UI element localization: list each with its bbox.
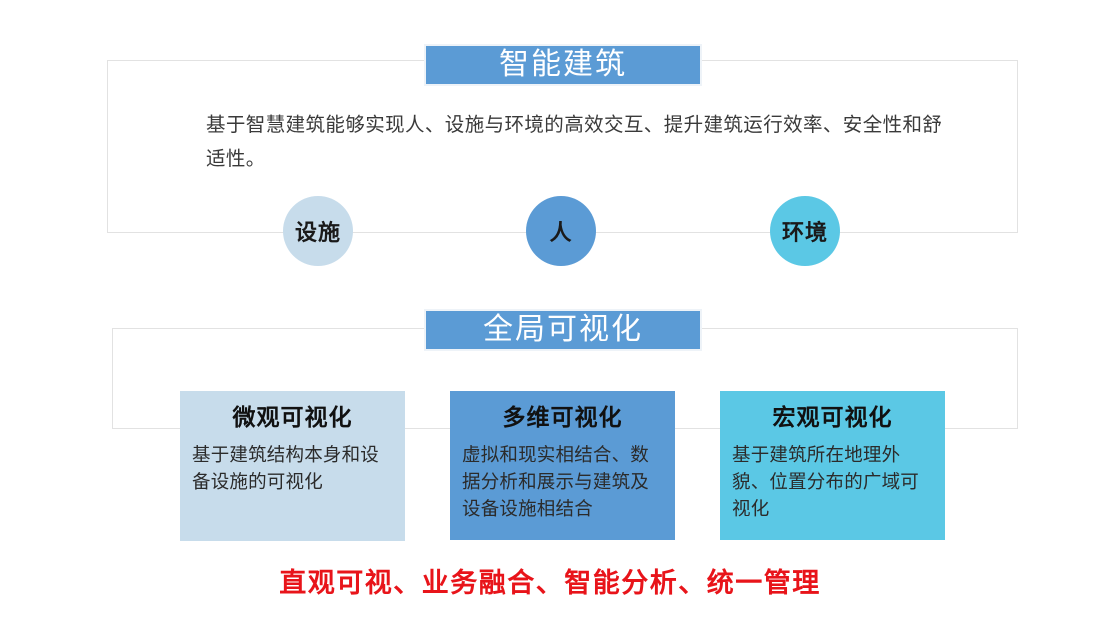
banner-smart-building-label: 智能建筑 [499,50,627,80]
banner-global-visualization-label: 全局可视化 [483,315,643,345]
pillar-circle-environment[interactable]: 环境 [770,196,840,266]
pillar-circle-row: 设施 人 环境 [107,196,1018,268]
pillar-circle-facilities[interactable]: 设施 [283,196,353,266]
card-macro-visualization-title: 宏观可视化 [732,405,933,430]
card-multidimensional-visualization[interactable]: 多维可视化 虚拟和现实相结合、数据分析和展示与建筑及设备设施相结合 [450,391,675,540]
card-micro-visualization-body: 基于建筑结构本身和设备设施的可视化 [192,441,393,495]
pillar-circle-people-label: 人 [549,215,572,247]
card-micro-visualization-title: 微观可视化 [192,405,393,430]
banner-global-visualization: 全局可视化 [424,309,702,351]
card-macro-visualization[interactable]: 宏观可视化 基于建筑所在地理外貌、位置分布的广域可视化 [720,391,945,540]
pillar-circle-facilities-label: 设施 [295,215,341,247]
footer-slogan: 直观可视、业务融合、智能分析、统一管理 [0,561,1100,600]
pillar-circle-environment-label: 环境 [782,215,828,247]
banner-smart-building: 智能建筑 [424,44,702,86]
card-macro-visualization-body: 基于建筑所在地理外貌、位置分布的广域可视化 [732,441,933,522]
card-multidimensional-visualization-body: 虚拟和现实相结合、数据分析和展示与建筑及设备设施相结合 [462,441,663,522]
card-micro-visualization[interactable]: 微观可视化 基于建筑结构本身和设备设施的可视化 [180,391,405,541]
pillar-circle-people[interactable]: 人 [526,196,596,266]
smart-building-description: 基于智慧建筑能够实现人、设施与环境的高效交互、提升建筑运行效率、安全性和舒适性。 [206,108,946,176]
card-multidimensional-visualization-title: 多维可视化 [462,405,663,430]
